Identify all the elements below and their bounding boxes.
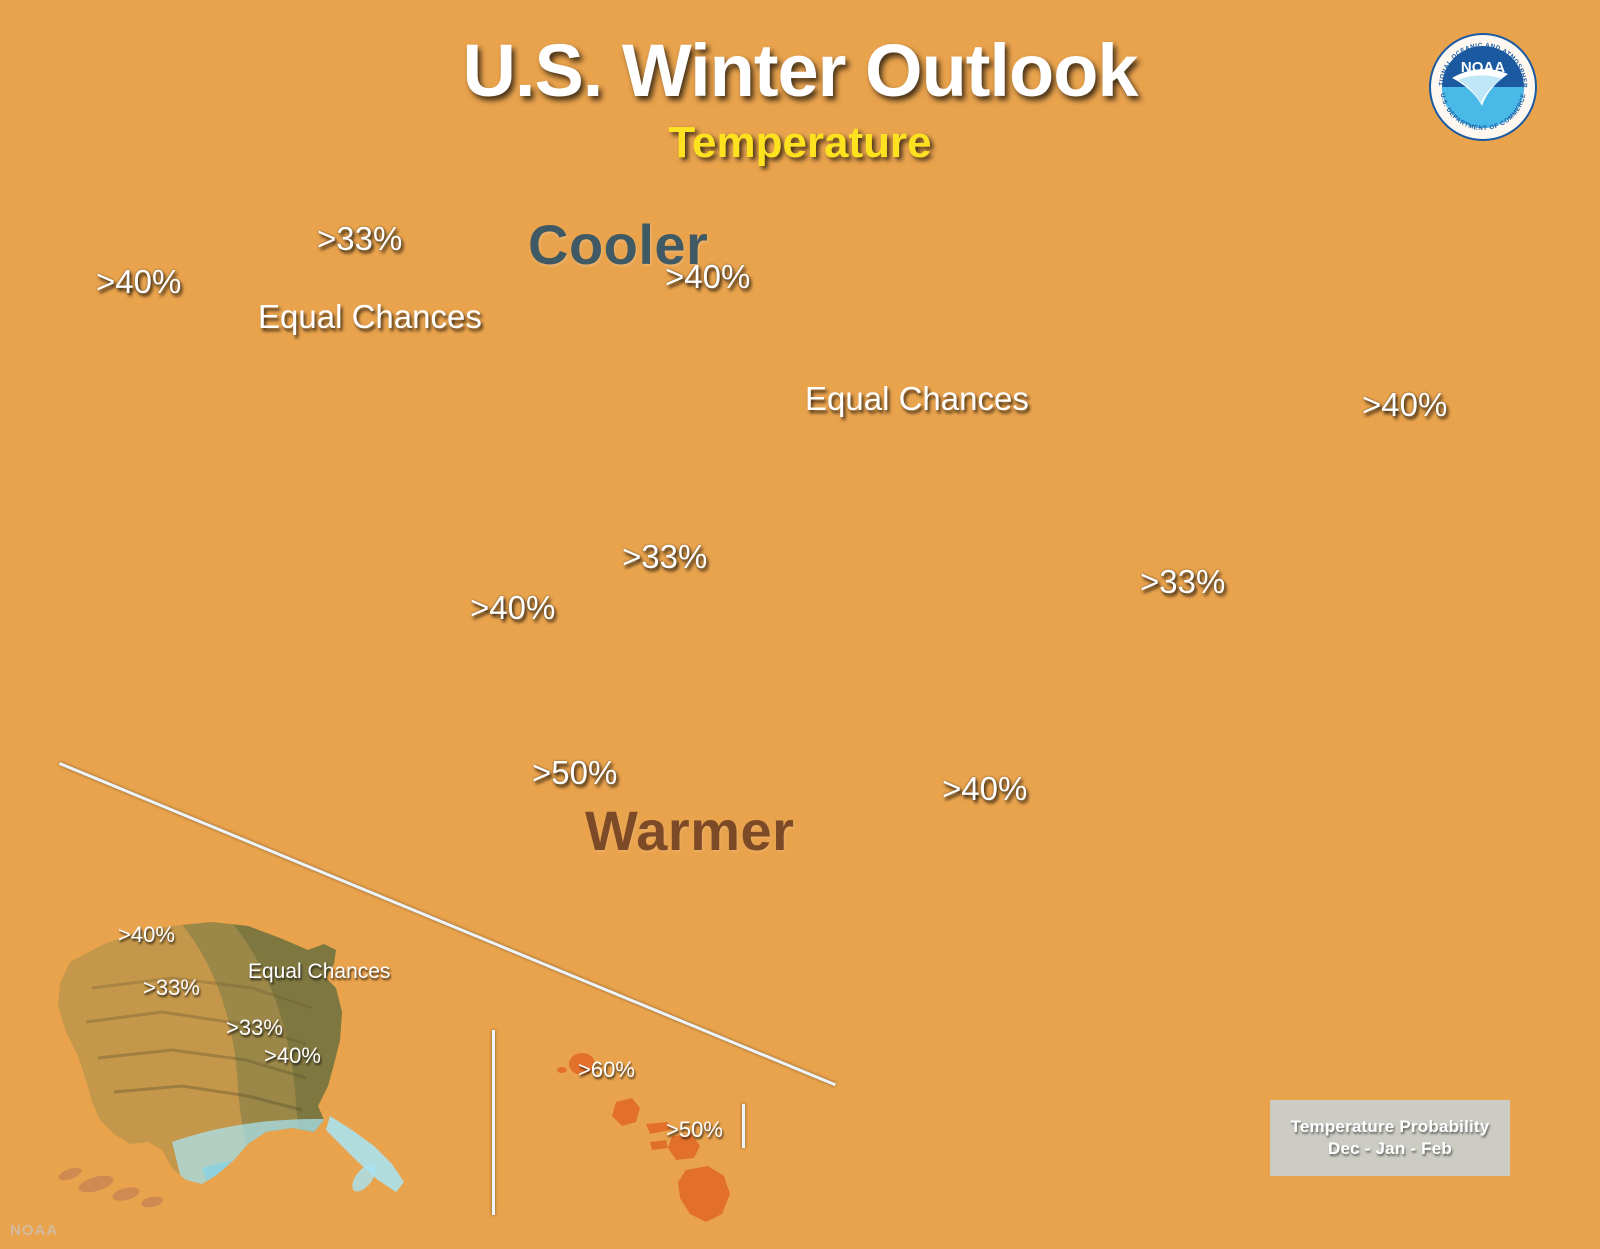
alaska-panhandle — [326, 1116, 404, 1196]
label-warmer-40-newengland: >40% — [1362, 386, 1447, 424]
label-cooler-heading: Cooler — [528, 212, 708, 277]
inset-divider-vertical — [492, 1030, 495, 1215]
label-warmer-50-desert: >50% — [532, 754, 617, 792]
noaa-logo-center-text: NOAA — [1461, 59, 1505, 76]
label-alaska-cooler-33: >33% — [226, 1015, 283, 1041]
equal-chances-text-midwest: Equal Chances — [805, 380, 1029, 417]
legend-line-1: Temperature Probability — [1291, 1117, 1490, 1137]
label-warmer-40-southwest: >40% — [470, 589, 555, 627]
hawaii-inset: >60% >50% — [500, 1030, 800, 1245]
label-hawaii-60: >60% — [578, 1057, 635, 1083]
label-alaska-equal-chances: Equal Chances — [248, 960, 390, 984]
label-warmer-heading: Warmer — [585, 798, 794, 863]
label-warmer-33-plains: >33% — [622, 538, 707, 576]
label-alaska-cooler-40: >40% — [264, 1043, 321, 1069]
noaa-watermark: NOAA — [10, 1222, 58, 1239]
label-equal-chances-west: Equal Chances — [258, 298, 482, 337]
label-equal-chances-midwest: Equal Chances — [805, 380, 1029, 419]
noaa-logo: NOAA NATIONAL OCEANIC AND ATMOSPHERIC U.… — [1428, 32, 1538, 142]
equal-chances-text-alaska: Equal Chances — [248, 960, 390, 983]
label-cooler-33-north: >33% — [317, 220, 402, 258]
label-alaska-warmer-40: >40% — [118, 922, 175, 948]
page-title: U.S. Winter Outlook — [0, 28, 1600, 113]
page-subtitle: Temperature — [0, 118, 1600, 168]
label-warmer-40-southeast: >40% — [942, 770, 1027, 808]
label-hawaii-50: >50% — [666, 1117, 723, 1143]
legend-box: Temperature Probability Dec - Jan - Feb — [1270, 1100, 1510, 1176]
alaska-inset: >40% >33% >33% >40% Equal Chances — [52, 892, 472, 1222]
legend-line-2: Dec - Jan - Feb — [1328, 1139, 1452, 1159]
winter-outlook-map: U.S. Winter Outlook Temperature NOAA NAT… — [0, 0, 1600, 1249]
alaska-aleutian-islands — [57, 1165, 164, 1209]
equal-chances-text-west: Equal Chances — [258, 298, 482, 335]
label-alaska-warmer-33: >33% — [143, 975, 200, 1001]
label-cooler-40-pnw: >40% — [96, 263, 181, 301]
label-warmer-33-midatlantic: >33% — [1140, 563, 1225, 601]
